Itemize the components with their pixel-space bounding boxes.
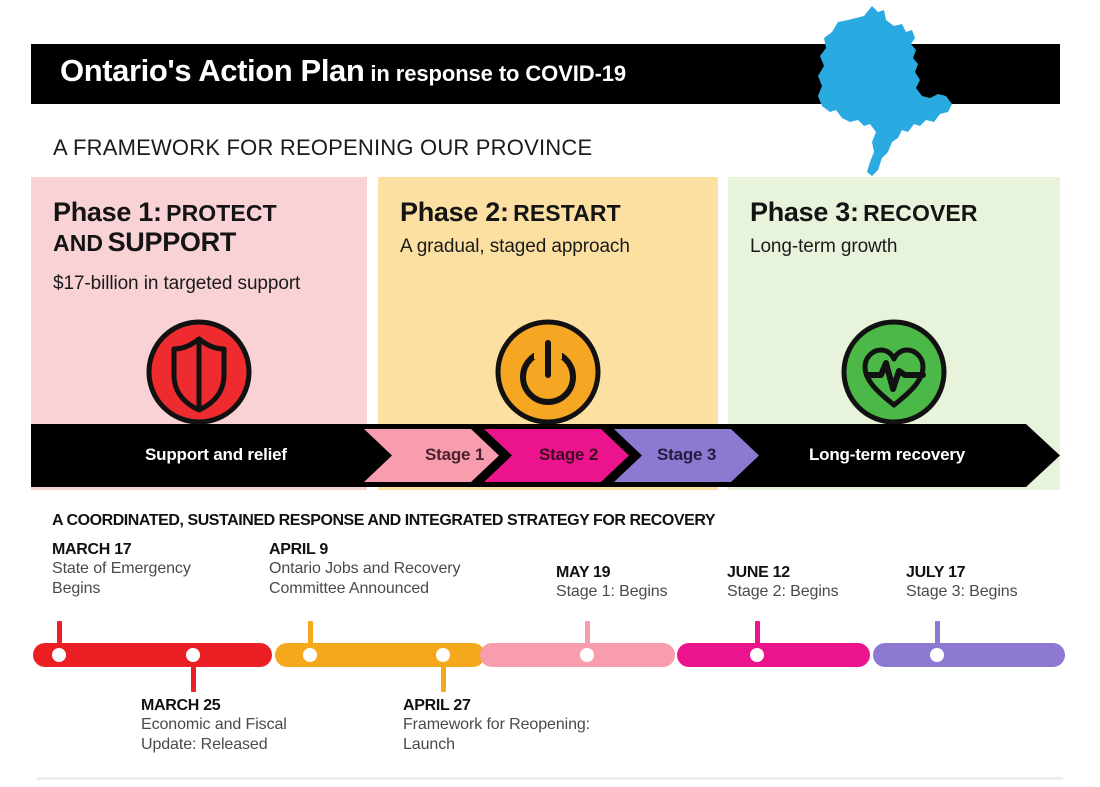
timeline-dot-april-9 xyxy=(303,648,317,662)
timeline-event-march-25: MARCH 25 Economic and Fiscal Update: Rel… xyxy=(141,697,381,756)
timeline-segment-1 xyxy=(33,643,272,667)
timeline-dot-may-19 xyxy=(580,648,594,662)
shield-icon xyxy=(144,317,254,427)
timeline-event-march-17: MARCH 17 State of Emergency Begins xyxy=(52,541,262,600)
timeline-event-desc: Stage 2: Begins xyxy=(727,582,897,602)
phase-1-name-prefix: AND xyxy=(53,230,103,256)
timeline-tick-april-27 xyxy=(441,660,446,692)
band-label-long-term-recovery: Long-term recovery xyxy=(809,445,965,465)
timeline-event-date: MARCH 17 xyxy=(52,541,262,559)
phase-3-number: Phase 3: xyxy=(750,197,859,227)
heart-pulse-icon xyxy=(839,317,949,427)
phase-1-name-line2: SUPPORT xyxy=(108,227,236,257)
timeline-event-desc: Framework for Reopening: Launch xyxy=(403,715,653,756)
phase-1-name: PROTECT xyxy=(166,200,277,226)
timeline-segment-4 xyxy=(677,643,870,667)
timeline-event-desc: Economic and Fiscal Update: Released xyxy=(141,715,381,756)
phase-2-subtitle: A gradual, staged approach xyxy=(400,236,710,258)
timeline-dot-april-27 xyxy=(436,648,450,662)
phase-3-title: Phase 3: RECOVER xyxy=(750,197,1050,227)
timeline-tick-april-9 xyxy=(308,621,313,651)
footer-divider xyxy=(37,777,1063,780)
timeline-event-desc: Stage 1: Begins xyxy=(556,582,726,602)
stage-chevron-3-label: Stage 3 xyxy=(657,445,716,465)
timeline-event-date: JUNE 12 xyxy=(727,564,897,582)
title-rest: in response to COVID-19 xyxy=(370,61,626,86)
stage-chevron-1-label: Stage 1 xyxy=(425,445,484,465)
title-strong: Ontario's Action Plan xyxy=(60,53,364,88)
timeline-segment-5 xyxy=(873,643,1065,667)
infographic-root: Ontario's Action Planin response to COVI… xyxy=(0,0,1100,787)
timeline-event-april-9: APRIL 9 Ontario Jobs and Recovery Commit… xyxy=(269,541,519,600)
timeline-tick-june-12 xyxy=(755,621,760,651)
timeline-tick-may-19 xyxy=(585,621,590,651)
timeline-heading: A COORDINATED, SUSTAINED RESPONSE AND IN… xyxy=(52,512,715,530)
band-label-support-relief: Support and relief xyxy=(145,445,287,465)
phase-1-subtitle: $17-billion in targeted support xyxy=(53,273,359,295)
page-title: Ontario's Action Planin response to COVI… xyxy=(60,53,626,89)
timeline-dot-march-25 xyxy=(186,648,200,662)
phase-3-subtitle: Long-term growth xyxy=(750,236,1052,258)
timeline-dot-march-17 xyxy=(52,648,66,662)
timeline-segment-3 xyxy=(480,643,675,667)
timeline-tick-march-25 xyxy=(191,660,196,692)
phase-3-name: RECOVER xyxy=(863,200,977,226)
timeline-event-desc: Stage 3: Begins xyxy=(906,582,1076,602)
timeline-tick-march-17 xyxy=(57,621,62,651)
phase-2-title: Phase 2: RESTART xyxy=(400,197,708,227)
timeline-event-july-17: JULY 17 Stage 3: Begins xyxy=(906,564,1076,602)
subtitle: A FRAMEWORK FOR REOPENING OUR PROVINCE xyxy=(53,135,592,161)
timeline-tick-july-17 xyxy=(935,621,940,651)
timeline-event-date: APRIL 9 xyxy=(269,541,519,559)
phase-1-title: Phase 1: PROTECT AND SUPPORT xyxy=(53,197,357,257)
timeline-event-may-19: MAY 19 Stage 1: Begins xyxy=(556,564,726,602)
timeline-dot-july-17 xyxy=(930,648,944,662)
timeline-event-april-27: APRIL 27 Framework for Reopening: Launch xyxy=(403,697,653,756)
timeline-event-june-12: JUNE 12 Stage 2: Begins xyxy=(727,564,897,602)
timeline-dot-june-12 xyxy=(750,648,764,662)
timeline-event-date: MAY 19 xyxy=(556,564,726,582)
timeline-event-date: JULY 17 xyxy=(906,564,1076,582)
timeline-event-date: MARCH 25 xyxy=(141,697,381,715)
progress-band: Support and relief Long-term recovery St… xyxy=(31,424,1060,487)
phase-2-number: Phase 2: xyxy=(400,197,509,227)
phase-2-name: RESTART xyxy=(513,200,621,226)
phase-1-number: Phase 1: xyxy=(53,197,162,227)
timeline-event-desc: State of Emergency Begins xyxy=(52,559,262,600)
stage-chevron-2-label: Stage 2 xyxy=(539,445,598,465)
timeline-event-date: APRIL 27 xyxy=(403,697,653,715)
ontario-map-icon xyxy=(812,0,1002,190)
timeline-event-desc: Ontario Jobs and Recovery Committee Anno… xyxy=(269,559,519,600)
power-icon xyxy=(493,317,603,427)
